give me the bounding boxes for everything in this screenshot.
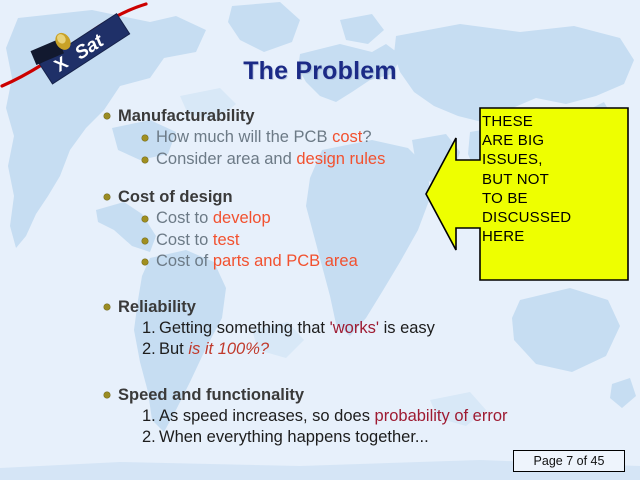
page-number-box: Page 7 of 45	[513, 450, 625, 472]
numbered-item: 2.When everything happens together...	[142, 427, 534, 449]
bullet-diamond-icon	[104, 392, 110, 398]
numbered-item: 2.But is it 100%?	[142, 339, 534, 361]
bullet-dot-icon	[142, 259, 148, 265]
page-title: The Problem	[0, 57, 640, 86]
bullet-dot-icon	[142, 157, 148, 163]
numbered-item: 1.As speed increases, so does probabilit…	[142, 406, 534, 428]
bullet-diamond-icon	[104, 194, 110, 200]
bullet-dot-icon	[142, 216, 148, 222]
bullet-dot-icon	[142, 238, 148, 244]
bullet-diamond-icon	[104, 113, 110, 119]
callout-text: THESE ARE BIG ISSUES, BUT NOT TO BE DISC…	[482, 112, 592, 246]
bullet-heading-speed-and-functionality: Speed and functionality	[104, 385, 534, 406]
bullet-dot-icon	[142, 135, 148, 141]
page-number-label: Page 7 of 45	[534, 454, 605, 468]
bullet-diamond-icon	[104, 304, 110, 310]
callout-arrow-box: THESE ARE BIG ISSUES, BUT NOT TO BE DISC…	[424, 104, 632, 284]
numbered-item: 1.Getting something that 'works' is easy	[142, 318, 534, 340]
slide-canvas: X Sat The Problem Manufacturability How …	[0, 0, 640, 480]
bullet-heading-reliability: Reliability	[104, 297, 534, 318]
